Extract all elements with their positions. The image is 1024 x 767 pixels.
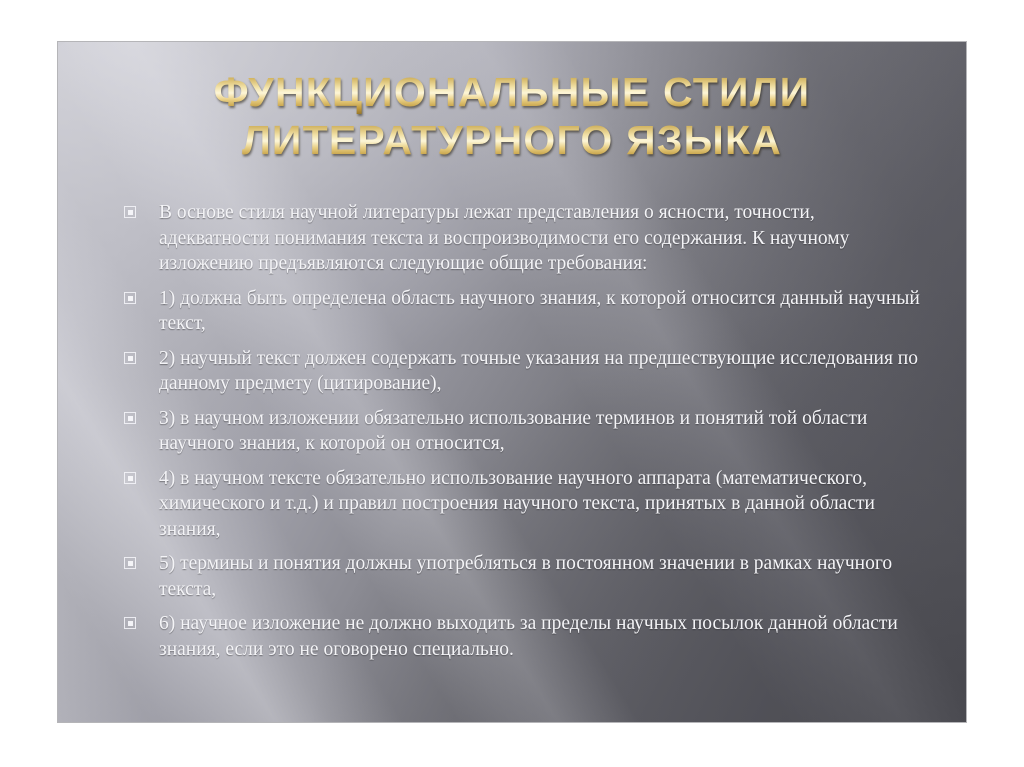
list-item-text: В основе стиля научной литературы лежат …	[159, 200, 924, 277]
slide-title: ФУНКЦИОНАЛЬНЫЕ СТИЛИ ЛИТЕРАТУРНОГО ЯЗЫКА	[92, 68, 932, 164]
list-item: 3) в научном изложении обязательно испол…	[124, 406, 924, 457]
list-item-text: 3) в научном изложении обязательно испол…	[159, 406, 924, 457]
list-item-text: 1) должна быть определена область научно…	[159, 286, 924, 337]
list-item-text: 6) научное изложение не должно выходить …	[159, 611, 924, 662]
slide-title-line-2: ЛИТЕРАТУРНОГО ЯЗЫКА	[92, 116, 932, 164]
list-item-text: 4) в научном тексте обязательно использо…	[159, 466, 924, 543]
square-bullet-icon	[124, 472, 138, 486]
list-item: 5) термины и понятия должны употреблятьс…	[124, 551, 924, 602]
list-item: 4) в научном тексте обязательно использо…	[124, 466, 924, 543]
page-root: ФУНКЦИОНАЛЬНЫЕ СТИЛИ ЛИТЕРАТУРНОГО ЯЗЫКА…	[0, 0, 1024, 767]
square-bullet-icon	[124, 206, 138, 220]
list-item: 2) научный текст должен содержать точные…	[124, 346, 924, 397]
slide-content: ФУНКЦИОНАЛЬНЫЕ СТИЛИ ЛИТЕРАТУРНОГО ЯЗЫКА…	[58, 42, 966, 722]
list-item: 1) должна быть определена область научно…	[124, 286, 924, 337]
square-bullet-icon	[124, 617, 138, 631]
list-item-text: 5) термины и понятия должны употреблятьс…	[159, 551, 924, 602]
presentation-slide: ФУНКЦИОНАЛЬНЫЕ СТИЛИ ЛИТЕРАТУРНОГО ЯЗЫКА…	[58, 42, 966, 722]
list-item: В основе стиля научной литературы лежат …	[124, 200, 924, 277]
list-item-text: 2) научный текст должен содержать точные…	[159, 346, 924, 397]
slide-body-list: В основе стиля научной литературы лежат …	[124, 200, 924, 671]
list-item: 6) научное изложение не должно выходить …	[124, 611, 924, 662]
slide-title-line-1: ФУНКЦИОНАЛЬНЫЕ СТИЛИ	[92, 68, 932, 116]
square-bullet-icon	[124, 292, 138, 306]
square-bullet-icon	[124, 352, 138, 366]
square-bullet-icon	[124, 412, 138, 426]
square-bullet-icon	[124, 557, 138, 571]
